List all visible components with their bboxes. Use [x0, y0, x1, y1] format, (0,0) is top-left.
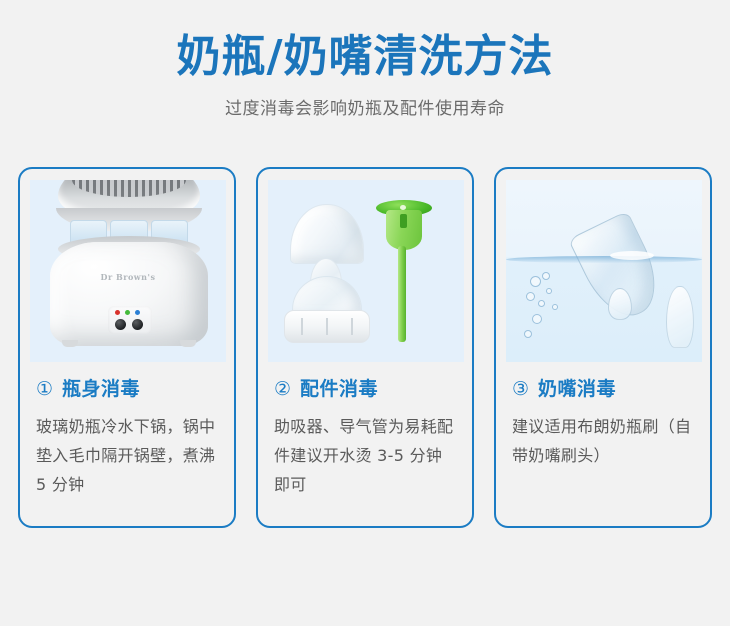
- bubble-icon: [546, 288, 552, 294]
- bubble-icon: [532, 314, 542, 324]
- teat-in-water-photo: [506, 180, 702, 362]
- card-body-text: 玻璃奶瓶冷水下锅，锅中垫入毛巾隔开锅壁，煮沸 5 分钟: [36, 412, 216, 499]
- green-led-icon: [125, 310, 130, 315]
- card-row: Dr Brown's ① 瓶: [18, 167, 712, 528]
- card-heading: ② 配件消毒: [274, 378, 462, 400]
- sterilizer-control-panel: [108, 306, 152, 334]
- step-number: ②: [274, 378, 291, 400]
- card-teat-sterilization[interactable]: ③ 奶嘴消毒 建议适用布朗奶瓶刷（自带奶嘴刷头）: [494, 167, 712, 528]
- card-body-text: 助吸器、导气管为易耗配件建议开水烫 3-5 分钟即可: [274, 412, 454, 499]
- step-number: ①: [36, 378, 53, 400]
- knob-icon: [115, 319, 126, 330]
- card-heading: ① 瓶身消毒: [36, 378, 224, 400]
- card-heading: ③ 奶嘴消毒: [512, 378, 700, 400]
- card-accessory-sterilization[interactable]: ② 配件消毒 助吸器、导气管为易耗配件建议开水烫 3-5 分钟即可: [256, 167, 474, 528]
- nipple-collar-icon: [284, 310, 370, 343]
- blue-led-icon: [135, 310, 140, 315]
- vent-tube-icon: [398, 246, 406, 342]
- red-led-icon: [115, 310, 120, 315]
- teat-tip-icon: [608, 288, 632, 320]
- page-root: 奶瓶/奶嘴清洗方法 过度消毒会影响奶瓶及配件使用寿命 Dr Brown's: [0, 0, 730, 626]
- bubble-icon: [538, 300, 545, 307]
- knob-icon: [132, 319, 143, 330]
- bubble-icon: [542, 272, 550, 280]
- vent-body-icon: [386, 210, 422, 250]
- brand-logo: Dr Brown's: [30, 272, 226, 282]
- bubble-icon: [530, 276, 541, 287]
- bottle-cap-icon: [290, 204, 364, 264]
- sterilizer-feet-icon: [56, 340, 202, 348]
- page-subtitle: 过度消毒会影响奶瓶及配件使用寿命: [0, 98, 730, 120]
- indicator-lights: [115, 310, 140, 315]
- water-surface-icon: [506, 256, 702, 263]
- card-title: 配件消毒: [300, 378, 378, 400]
- bubble-icon: [526, 292, 535, 301]
- card-body-text: 建议适用布朗奶瓶刷（自带奶嘴刷头）: [512, 412, 692, 470]
- step-number: ③: [512, 378, 529, 400]
- control-knobs: [115, 319, 143, 330]
- bottle-sterilizer-photo: Dr Brown's: [30, 180, 226, 362]
- page-title: 奶瓶/奶嘴清洗方法: [0, 30, 730, 84]
- bubble-icon: [552, 304, 558, 310]
- card-title: 奶嘴消毒: [538, 378, 616, 400]
- bubble-icon: [524, 330, 532, 338]
- card-bottle-sterilization[interactable]: Dr Brown's ① 瓶: [18, 167, 236, 528]
- page-header: 奶瓶/奶嘴清洗方法 过度消毒会影响奶瓶及配件使用寿命: [0, 0, 730, 120]
- bottle-accessories-photo: [268, 180, 464, 362]
- card-title: 瓶身消毒: [62, 378, 140, 400]
- second-teat-icon: [666, 286, 694, 348]
